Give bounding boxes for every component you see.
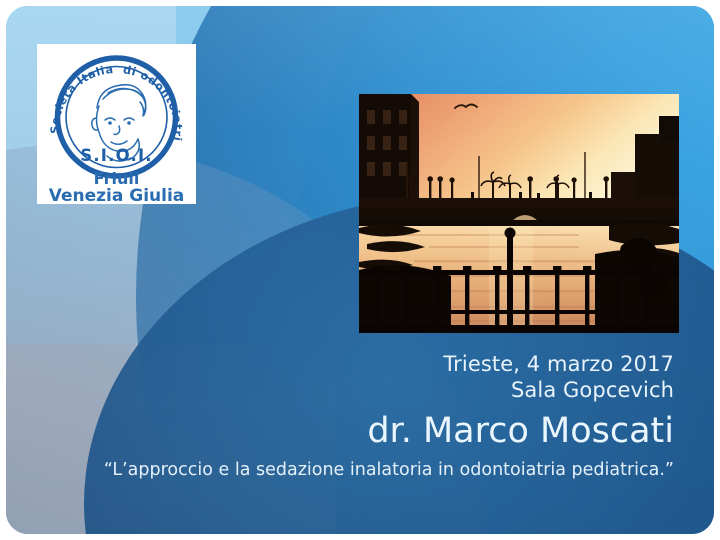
logo-acronym: S.I.O.I. xyxy=(80,146,153,165)
speaker-name: dr. Marco Moscati xyxy=(34,407,674,455)
event-venue: Sala Gopcevich xyxy=(34,377,674,403)
title-text-block: Trieste, 4 marzo 2017 Sala Gopcevich dr.… xyxy=(34,351,674,455)
sioi-logo-graphic: Società Italiana di odontoiatria Infanti… xyxy=(37,44,196,204)
event-place-and-date: Trieste, 4 marzo 2017 xyxy=(34,351,674,377)
trieste-canal-sunset-photo xyxy=(359,94,679,333)
presentation-subtitle: “L’approccio e la sedazione inalatoria i… xyxy=(30,458,674,482)
title-slide: Società Italiana di odontoiatria Infanti… xyxy=(6,6,714,534)
photo-graphic xyxy=(359,94,679,333)
sioi-logo: Società Italiana di odontoiatria Infanti… xyxy=(37,44,196,204)
logo-region-line2: Venezia Giulia xyxy=(49,186,185,204)
